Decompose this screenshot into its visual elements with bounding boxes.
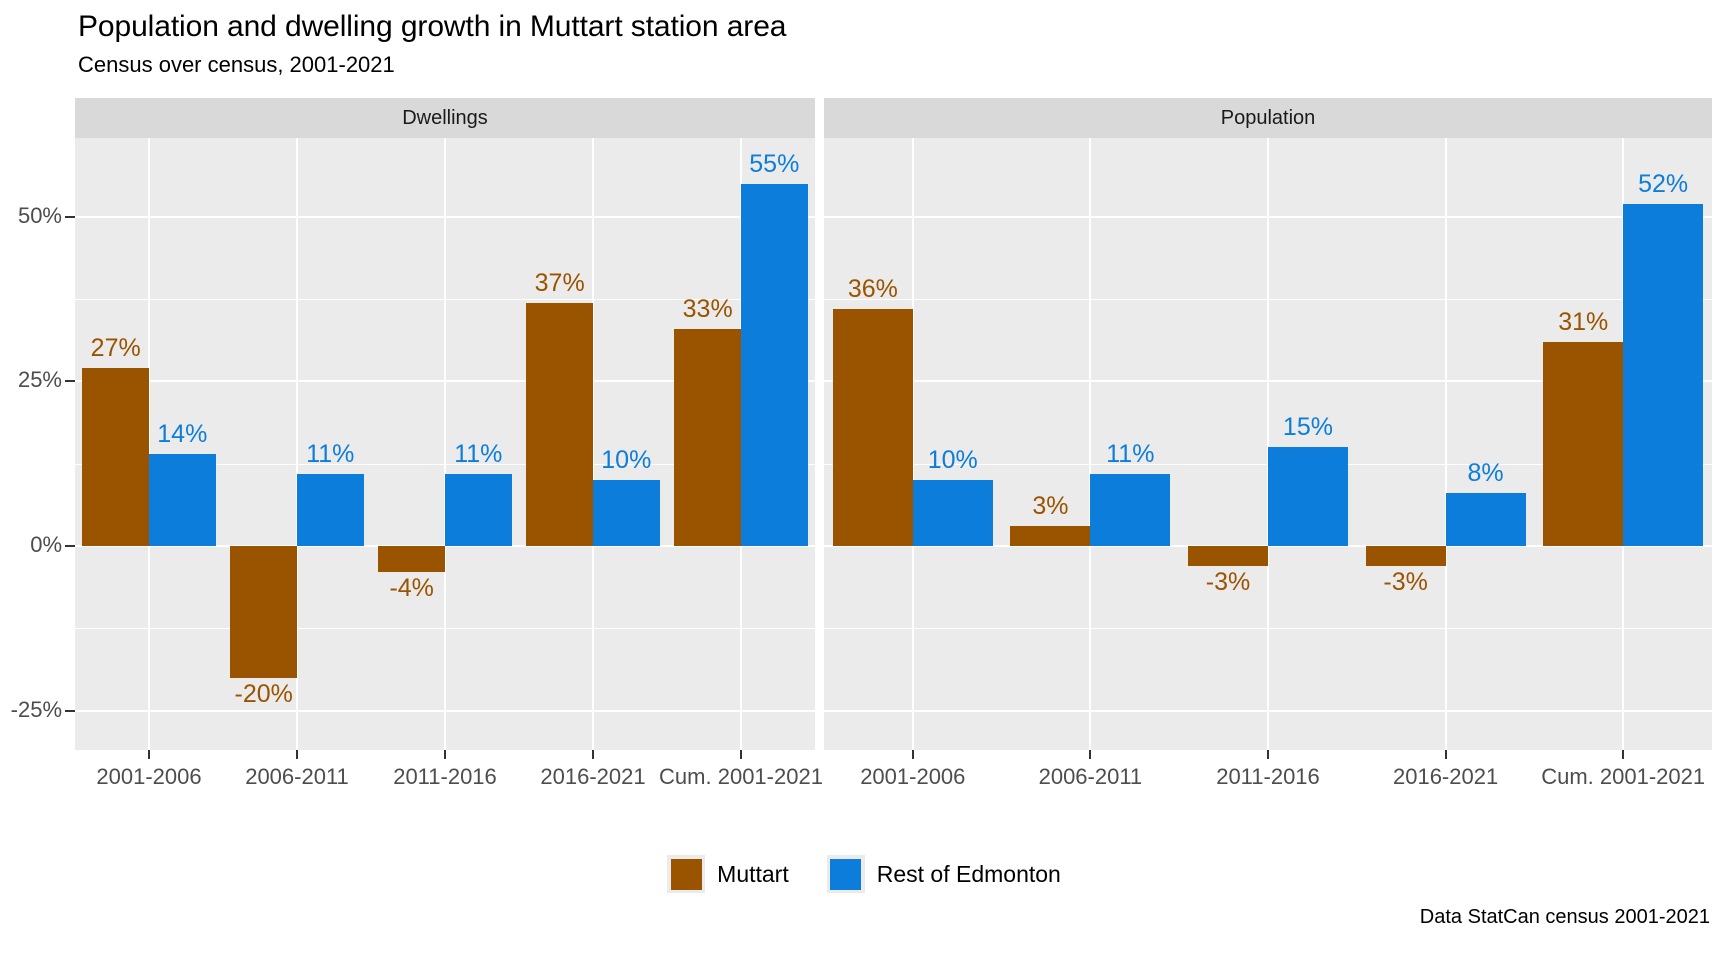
bar-muttart-cum-2001-2021[interactable] (1543, 342, 1623, 546)
gridline-vertical (1267, 138, 1269, 750)
bar-value-label: -4% (358, 574, 465, 603)
y-tick-label: 0% (0, 532, 62, 558)
facet-panel-population: Population36%10%3%11%-3%15%-3%8%31%52% (824, 98, 1712, 750)
x-tick-label: Cum. 2001-2021 (1503, 764, 1728, 790)
bar-value-label: 14% (129, 420, 236, 449)
bar-muttart-2001-2006[interactable] (833, 309, 913, 546)
x-tick-mark (592, 750, 594, 759)
chart-container: Population and dwelling growth in Muttar… (0, 0, 1728, 960)
bar-rest-of-edmonton-cum-2001-2021[interactable] (1623, 204, 1703, 546)
bar-rest-of-edmonton-2016-2021[interactable] (593, 480, 660, 546)
bar-value-label: 27% (75, 334, 169, 363)
bar-value-label: 52% (1603, 170, 1712, 199)
x-tick-mark (444, 750, 446, 759)
y-tick-label: 50% (0, 203, 62, 229)
bar-rest-of-edmonton-2006-2011[interactable] (297, 474, 364, 546)
bar-rest-of-edmonton-2001-2006[interactable] (149, 454, 216, 546)
facet-panel-dwellings: Dwellings27%14%-20%11%-4%11%37%10%33%55% (75, 98, 815, 750)
facet-strip-label: Population (824, 98, 1712, 138)
bar-value-label: 10% (893, 446, 1013, 475)
bar-rest-of-edmonton-2011-2016[interactable] (445, 474, 512, 546)
y-tick-mark (65, 216, 75, 218)
bar-rest-of-edmonton-2011-2016[interactable] (1268, 447, 1348, 546)
x-tick-mark (1267, 750, 1269, 759)
gridline-vertical (1445, 138, 1447, 750)
bar-muttart-2016-2021[interactable] (1366, 546, 1446, 566)
x-tick-mark (1622, 750, 1624, 759)
legend-label: Rest of Edmonton (877, 861, 1061, 888)
facet-plot-area: 27%14%-20%11%-4%11%37%10%33%55% (75, 138, 815, 750)
legend-item-rest-of-edmonton[interactable]: Rest of Edmonton (827, 855, 1061, 893)
x-tick-mark (1089, 750, 1091, 759)
bar-rest-of-edmonton-2001-2006[interactable] (913, 480, 993, 546)
chart-legend: MuttartRest of Edmonton (0, 855, 1728, 893)
legend-label: Muttart (717, 861, 789, 888)
bar-value-label: 11% (1070, 440, 1190, 469)
bar-rest-of-edmonton-cum-2001-2021[interactable] (741, 184, 808, 546)
y-tick-mark (65, 545, 75, 547)
chart-subtitle: Census over census, 2001-2021 (78, 52, 395, 78)
x-tick-mark (912, 750, 914, 759)
legend-key (667, 855, 705, 893)
x-tick-mark (296, 750, 298, 759)
x-tick-mark (740, 750, 742, 759)
bar-value-label: 11% (277, 440, 384, 469)
legend-key (827, 855, 865, 893)
chart-title: Population and dwelling growth in Muttar… (78, 10, 786, 44)
legend-color-swatch (830, 859, 861, 890)
bar-value-label: -20% (210, 680, 317, 709)
legend-item-muttart[interactable]: Muttart (667, 855, 789, 893)
bar-value-label: 36% (824, 275, 933, 304)
chart-caption: Data StatCan census 2001-2021 (1420, 906, 1710, 929)
x-tick-mark (148, 750, 150, 759)
bar-muttart-2016-2021[interactable] (526, 303, 593, 546)
bar-value-label: 37% (506, 269, 613, 298)
legend-color-swatch (671, 859, 702, 890)
bar-value-label: 8% (1426, 459, 1546, 488)
bar-value-label: -3% (1168, 568, 1288, 597)
bar-value-label: -3% (1346, 568, 1466, 597)
bar-value-label: 15% (1248, 413, 1368, 442)
bar-value-label: 10% (573, 446, 680, 475)
bar-value-label: 55% (721, 150, 815, 179)
y-tick-label: -25% (0, 697, 62, 723)
facet-strip-label: Dwellings (75, 98, 815, 138)
x-tick-mark (1445, 750, 1447, 759)
y-tick-mark (65, 380, 75, 382)
bar-rest-of-edmonton-2006-2011[interactable] (1090, 474, 1170, 546)
bar-value-label: 11% (425, 440, 532, 469)
facet-plot-area: 36%10%3%11%-3%15%-3%8%31%52% (824, 138, 1712, 750)
y-tick-mark (65, 710, 75, 712)
bar-muttart-2011-2016[interactable] (1188, 546, 1268, 566)
y-tick-label: 25% (0, 367, 62, 393)
bar-rest-of-edmonton-2016-2021[interactable] (1446, 493, 1526, 546)
bar-muttart-2011-2016[interactable] (378, 546, 445, 572)
bar-muttart-cum-2001-2021[interactable] (674, 329, 741, 546)
bar-muttart-2001-2006[interactable] (82, 368, 149, 546)
bar-muttart-2006-2011[interactable] (230, 546, 297, 678)
bar-muttart-2006-2011[interactable] (1010, 526, 1090, 546)
